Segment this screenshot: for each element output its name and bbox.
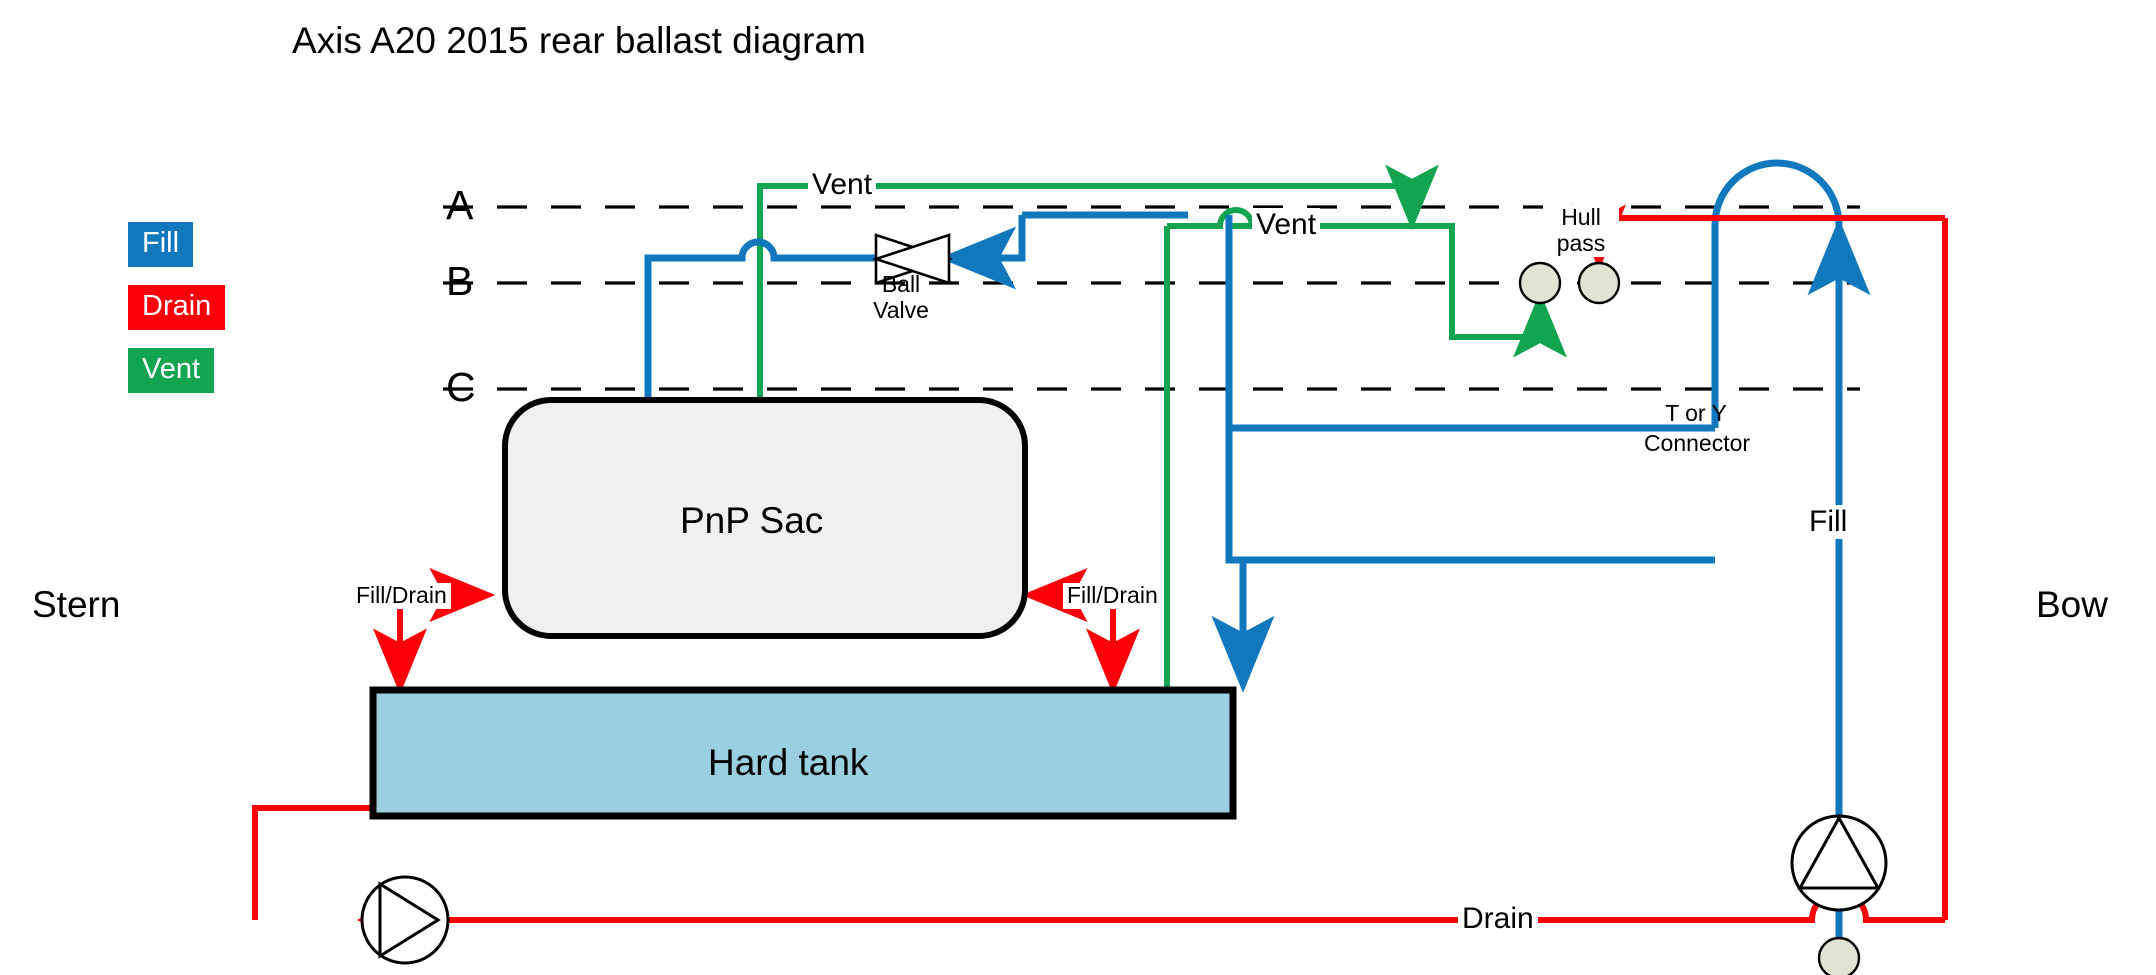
hull-pass-label-line2: pass	[1543, 231, 1619, 257]
ball-valve-label-line2: Valve	[865, 298, 937, 324]
drain-stern-leg	[255, 808, 373, 920]
drain-label-bottom: Drain	[1458, 902, 1538, 936]
reference-label-a: A	[446, 183, 473, 229]
ball-valve-label-line1: Ball	[865, 272, 937, 298]
t-or-y-label-line1: T or Y	[1641, 401, 1751, 427]
legend: Fill Drain Vent	[128, 222, 225, 411]
hull-pass-label-line1: Hull	[1543, 205, 1619, 231]
hull-fitting-drain	[1579, 263, 1619, 303]
vent-label-right: Vent	[1252, 208, 1320, 242]
reference-label-b: B	[446, 259, 473, 305]
fill-to-ball-valve	[949, 215, 1022, 258]
fill-label-bow: Fill	[1805, 505, 1851, 539]
reference-label-c: C	[446, 365, 476, 411]
fill-drain-label-right: Fill/Drain	[1063, 583, 1162, 609]
stern-label: Stern	[32, 584, 120, 625]
legend-item-fill[interactable]: Fill	[128, 222, 193, 267]
hull-fitting-vent	[1520, 263, 1560, 303]
diagram-canvas: Axis A20 2015 rear ballast diagram Fill …	[0, 0, 2156, 975]
ballast-schematic	[0, 0, 2156, 975]
page-title: Axis A20 2015 rear ballast diagram	[292, 20, 866, 62]
legend-item-drain[interactable]: Drain	[128, 285, 225, 330]
t-or-y-label-line2: Connector	[1629, 431, 1765, 457]
reference-lines	[443, 207, 1860, 389]
fill-t-branch	[1229, 215, 1715, 428]
fill-bow-riser	[1715, 163, 1839, 840]
legend-item-vent[interactable]: Vent	[128, 348, 214, 393]
bow-pump-symbol	[1792, 816, 1886, 910]
drain-bottom-main	[433, 893, 1945, 920]
vent-label-left: Vent	[808, 168, 876, 202]
fill-to-hardtank	[1229, 215, 1243, 560]
pnp-sac-label: PnP Sac	[680, 500, 823, 541]
hull-fitting-fill	[1819, 938, 1859, 975]
stern-pump-symbol	[362, 877, 448, 963]
hard-tank-label: Hard tank	[708, 742, 868, 783]
fill-drain-label-left: Fill/Drain	[352, 583, 451, 609]
bow-label: Bow	[2036, 584, 2108, 625]
